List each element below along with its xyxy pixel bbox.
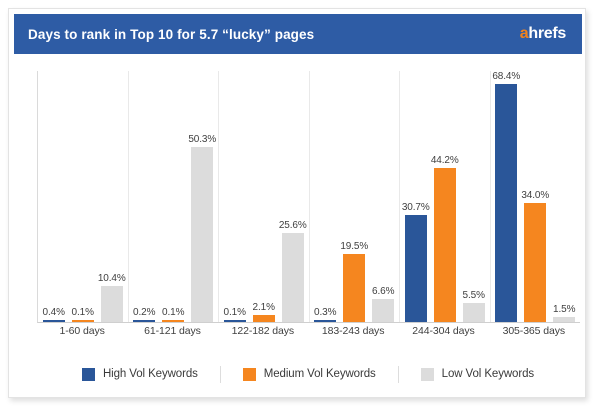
bar-value-label: 44.2% — [431, 155, 459, 166]
bar-value-label: 0.2% — [133, 307, 155, 318]
bar-value-label: 1.5% — [553, 304, 575, 315]
legend-item-label: Low Vol Keywords — [442, 368, 534, 380]
bar-value-label: 0.1% — [162, 307, 184, 318]
bar-column: 1.5% — [553, 71, 575, 322]
bar-group: 30.7%44.2%5.5% — [400, 71, 491, 322]
bar-column: 25.6% — [282, 71, 304, 322]
chart-legend: High Vol KeywordsMedium Vol KeywordsLow … — [37, 361, 579, 387]
x-axis-tick-label: 183-243 days — [308, 325, 398, 345]
bar-group-bars: 0.1%2.1%25.6% — [219, 71, 309, 322]
bar-group: 0.2%0.1%50.3% — [129, 71, 220, 322]
bar-group-bars: 30.7%44.2%5.5% — [400, 71, 490, 322]
bar-group: 0.3%19.5%6.6% — [310, 71, 401, 322]
legend-swatch-icon — [82, 368, 95, 381]
bar-value-label: 0.3% — [314, 307, 336, 318]
bar-high[interactable] — [495, 84, 517, 322]
plot-area: 0.4%0.1%10.4%0.2%0.1%50.3%0.1%2.1%25.6%0… — [37, 71, 580, 323]
legend-item-medium[interactable]: Medium Vol Keywords — [221, 368, 398, 381]
bar-column: 0.4% — [43, 71, 65, 322]
bar-value-label: 68.4% — [492, 71, 520, 82]
bar-low[interactable] — [101, 286, 123, 322]
bar-high[interactable] — [133, 320, 155, 323]
bar-value-label: 6.6% — [372, 286, 394, 297]
x-axis-tick-label: 61-121 days — [127, 325, 217, 345]
bar-group: 0.4%0.1%10.4% — [38, 71, 129, 322]
legend-item-high[interactable]: High Vol Keywords — [60, 368, 220, 381]
chart-card: Days to rank in Top 10 for 5.7 “lucky” p… — [8, 8, 586, 398]
x-axis-tick-labels: 1-60 days61-121 days122-182 days183-243 … — [37, 325, 579, 345]
bar-value-label: 25.6% — [279, 220, 307, 231]
bar-column: 0.1% — [224, 71, 246, 322]
bar-medium[interactable] — [162, 320, 184, 323]
bar-low[interactable] — [191, 147, 213, 322]
ahrefs-logo: ahrefs — [520, 25, 566, 43]
bar-column: 0.2% — [133, 71, 155, 322]
bar-column: 0.1% — [162, 71, 184, 322]
legend-item-label: Medium Vol Keywords — [264, 368, 376, 380]
legend-swatch-icon — [243, 368, 256, 381]
x-axis-tick-label: 122-182 days — [218, 325, 308, 345]
bar-medium[interactable] — [343, 254, 365, 322]
bar-column: 5.5% — [463, 71, 485, 322]
bar-high[interactable] — [405, 215, 427, 322]
bar-column: 10.4% — [101, 71, 123, 322]
bar-value-label: 30.7% — [402, 202, 430, 213]
legend-swatch-icon — [421, 368, 434, 381]
bar-low[interactable] — [553, 317, 575, 322]
bar-high[interactable] — [43, 320, 65, 323]
bar-value-label: 0.1% — [72, 307, 94, 318]
bar-high[interactable] — [314, 320, 336, 323]
bar-low[interactable] — [372, 299, 394, 322]
bar-column: 0.1% — [72, 71, 94, 322]
bar-column: 68.4% — [495, 71, 517, 322]
x-axis-tick-label: 305-365 days — [489, 325, 579, 345]
bar-column: 30.7% — [405, 71, 427, 322]
bar-column: 19.5% — [343, 71, 365, 322]
bar-low[interactable] — [463, 303, 485, 322]
bar-value-label: 2.1% — [253, 302, 275, 313]
bar-value-label: 19.5% — [340, 241, 368, 252]
bar-column: 34.0% — [524, 71, 546, 322]
page-title: Days to rank in Top 10 for 5.7 “lucky” p… — [28, 27, 314, 42]
bar-high[interactable] — [224, 320, 246, 323]
bar-medium[interactable] — [72, 320, 94, 323]
bar-medium[interactable] — [434, 168, 456, 322]
bar-medium[interactable] — [524, 203, 546, 322]
bar-value-label: 0.4% — [43, 307, 65, 318]
bar-low[interactable] — [282, 233, 304, 322]
x-axis-tick-label: 1-60 days — [37, 325, 127, 345]
bar-column: 2.1% — [253, 71, 275, 322]
bar-value-label: 50.3% — [188, 134, 216, 145]
bar-value-label: 0.1% — [224, 307, 246, 318]
chart-header: Days to rank in Top 10 for 5.7 “lucky” p… — [14, 14, 582, 54]
bar-column: 44.2% — [434, 71, 456, 322]
bar-medium[interactable] — [253, 315, 275, 322]
bar-value-label: 5.5% — [463, 290, 485, 301]
bar-column: 6.6% — [372, 71, 394, 322]
bar-column: 50.3% — [191, 71, 213, 322]
bar-group: 68.4%34.0%1.5% — [491, 71, 581, 322]
bar-group-bars: 0.3%19.5%6.6% — [310, 71, 400, 322]
legend-item-label: High Vol Keywords — [103, 368, 198, 380]
bar-column: 0.3% — [314, 71, 336, 322]
bar-value-label: 34.0% — [521, 190, 549, 201]
x-axis-tick-label: 244-304 days — [398, 325, 488, 345]
legend-item-low[interactable]: Low Vol Keywords — [399, 368, 556, 381]
logo-wordmark: hrefs — [528, 25, 566, 42]
bar-value-label: 10.4% — [98, 273, 126, 284]
bar-group-bars: 0.4%0.1%10.4% — [38, 71, 128, 322]
bar-group: 0.1%2.1%25.6% — [219, 71, 310, 322]
bar-groups: 0.4%0.1%10.4%0.2%0.1%50.3%0.1%2.1%25.6%0… — [38, 71, 580, 322]
bar-group-bars: 0.2%0.1%50.3% — [129, 71, 219, 322]
bar-group-bars: 68.4%34.0%1.5% — [491, 71, 581, 322]
